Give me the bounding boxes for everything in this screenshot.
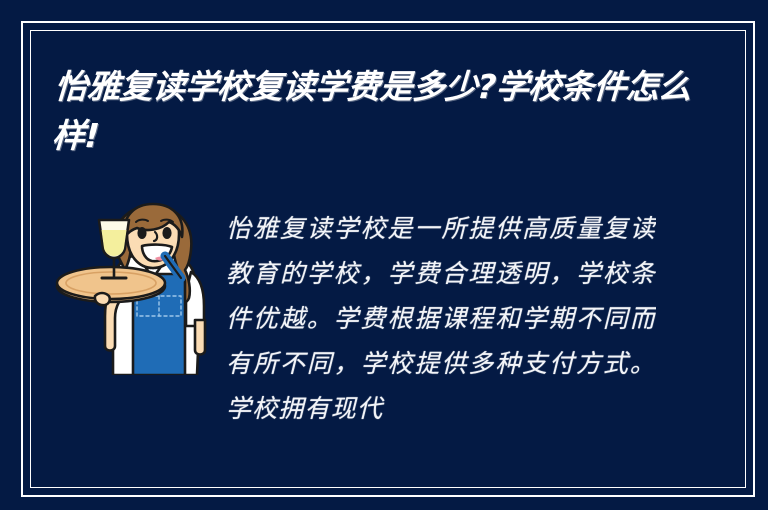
- poster-canvas: 怡雅复读学校复读学费是多少?学校条件怎么样!: [0, 0, 768, 510]
- poster-title: 怡雅复读学校复读学费是多少?学校条件怎么样!: [51, 62, 696, 160]
- poster-body-text: 怡雅复读学校是一所提供高质量复读教育的学校，学费合理透明，学校条件优越。学费根据…: [226, 206, 656, 431]
- waitress-with-tray-illustration: [55, 200, 207, 375]
